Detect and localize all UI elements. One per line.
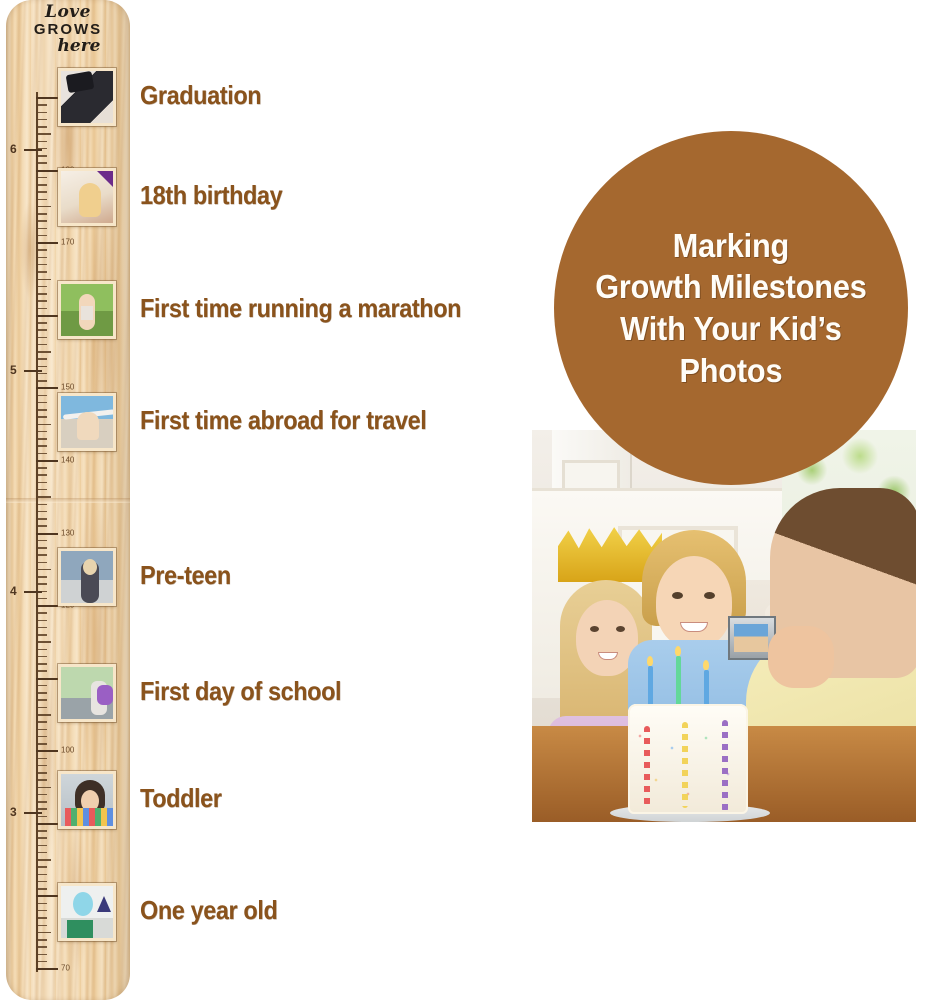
callout-text: Marking Growth Milestones With Your Kid’…	[595, 225, 866, 391]
milestone-label-first-day-school: First day of school	[140, 676, 341, 707]
travel-abroad-photo	[58, 393, 116, 451]
product-infographic: Love GROWS here 190180170160150140130120…	[0, 0, 930, 1000]
board-photo-detail	[67, 920, 93, 938]
photo-cake-ribbon-red	[644, 726, 650, 806]
photo-flame-2	[675, 646, 681, 656]
milestone-label-marathon: First time running a marathon	[140, 293, 461, 324]
graduation-photo	[58, 68, 116, 126]
board-photo-detail	[73, 892, 93, 916]
board-photo-image	[61, 284, 113, 336]
board-photo-detail	[81, 306, 93, 320]
photo-boy-face	[656, 556, 732, 648]
board-photo-detail	[97, 171, 113, 187]
photo-flame-3	[703, 660, 709, 670]
board-photo-detail	[79, 183, 101, 217]
photo-camera-screen	[734, 624, 768, 652]
photo-girl-eye-left	[590, 626, 599, 632]
photo-father-hand	[768, 626, 834, 688]
photo-boy-eye-right	[704, 592, 715, 599]
milestone-label-pre-teen: Pre-teen	[140, 560, 231, 591]
photo-girl-eye-right	[616, 626, 625, 632]
board-photo-image	[61, 71, 113, 123]
milestone-label-18th-birthday: 18th birthday	[140, 180, 282, 211]
board-photo-image	[61, 774, 113, 826]
milestone-label-travel: First time abroad for travel	[140, 405, 426, 436]
board-photo-detail	[97, 896, 111, 912]
board-photo-detail	[66, 71, 95, 93]
callout-line-3: With Your Kid’s	[595, 308, 866, 350]
board-photo-image	[61, 886, 113, 938]
pre-teen-photo	[58, 548, 116, 606]
first-day-of-school-photo	[58, 664, 116, 722]
callout-line-2: Growth Milestones	[595, 266, 866, 308]
callout-circle: Marking Growth Milestones With Your Kid’…	[554, 131, 908, 485]
board-edge-shading	[6, 0, 130, 1000]
board-photo-detail	[97, 685, 113, 705]
toddler-photo	[58, 771, 116, 829]
milestone-label-one-year-old: One year old	[140, 895, 277, 926]
board-photo-image	[61, 396, 113, 448]
callout-line-4: Photos	[595, 350, 866, 392]
milestone-label-graduation: Graduation	[140, 80, 261, 111]
photo-boy-eye-left	[672, 592, 683, 599]
eighteenth-birthday-photo	[58, 168, 116, 226]
photo-flame-1	[647, 656, 653, 666]
board-photo-detail	[77, 412, 99, 440]
photo-cake-ribbon-yellow	[682, 722, 688, 808]
milestone-label-toddler: Toddler	[140, 783, 222, 814]
board-photo-detail	[65, 808, 115, 828]
callout-line-1: Marking	[595, 225, 866, 267]
board-photo-image	[61, 667, 113, 719]
marathon-photo	[58, 281, 116, 339]
board-photo-image	[61, 171, 113, 223]
photo-cake-ribbon-purple	[722, 720, 728, 812]
board-photo-detail	[83, 559, 97, 575]
growth-chart-ruler: Love GROWS here 190180170160150140130120…	[6, 0, 130, 1000]
board-photo-image	[61, 551, 113, 603]
one-year-old-photo	[58, 883, 116, 941]
birthday-party-photo	[532, 430, 916, 822]
